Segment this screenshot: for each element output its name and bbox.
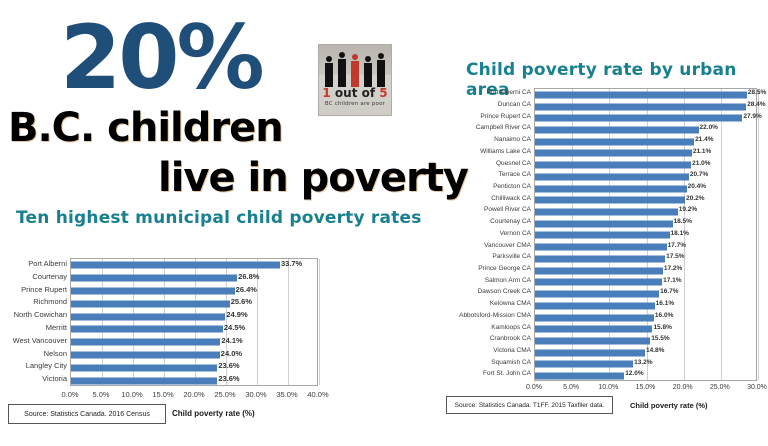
- bar[interactable]: [535, 349, 645, 356]
- x-axis-tick: 30.0%: [732, 384, 768, 391]
- category-label: Cranbrook CA: [439, 335, 531, 342]
- chart-row: [535, 230, 756, 242]
- chart-row: [535, 300, 756, 312]
- bar[interactable]: [535, 91, 747, 98]
- value-label: 18.1%: [671, 230, 689, 237]
- category-label: Kelowna CMA: [439, 300, 531, 307]
- chart-row: [535, 288, 756, 300]
- chart-row: [535, 112, 756, 124]
- category-label: Williams Lake CA: [439, 148, 531, 155]
- bar[interactable]: [535, 361, 633, 368]
- chart-row: [535, 89, 756, 101]
- category-label: Parksville CA: [439, 253, 531, 260]
- bar[interactable]: [535, 115, 742, 122]
- bar[interactable]: [535, 326, 652, 333]
- value-label: 16.7%: [660, 288, 678, 295]
- gridline: [758, 89, 759, 380]
- chart-row: [535, 218, 756, 230]
- value-label: 21.1%: [693, 148, 711, 155]
- value-label: 22.0%: [700, 124, 718, 131]
- value-label: 20.7%: [690, 171, 708, 178]
- category-label: Port Alberni CA: [439, 89, 531, 96]
- value-label: 17.5%: [666, 253, 684, 260]
- chart-row: [535, 370, 756, 382]
- category-label: Squamish CA: [439, 359, 531, 366]
- value-label: 28.4%: [747, 101, 765, 108]
- chart-row: [535, 124, 756, 136]
- value-label: 12.0%: [625, 370, 643, 377]
- bar[interactable]: [535, 197, 685, 204]
- chart-row: [535, 312, 756, 324]
- urban-area-child-poverty-chart: Port Alberni CA28.5%Duncan CA28.4%Prince…: [0, 0, 768, 446]
- category-label: Fort St. John CA: [439, 370, 531, 377]
- bar[interactable]: [535, 162, 691, 169]
- value-label: 18.5%: [674, 218, 692, 225]
- bar[interactable]: [535, 127, 699, 134]
- category-label: Courtenay CA: [439, 218, 531, 225]
- bar[interactable]: [535, 255, 665, 262]
- bar[interactable]: [535, 150, 692, 157]
- chart-row: [535, 265, 756, 277]
- chart-row: [535, 323, 756, 335]
- value-label: 15.5%: [651, 335, 669, 342]
- value-label: 19.2%: [679, 206, 697, 213]
- chart-row: [535, 148, 756, 160]
- infographic-canvas: 20% B.C. children live in poverty 1 out …: [0, 0, 768, 446]
- value-label: 17.2%: [664, 265, 682, 272]
- category-label: Nanaimo CA: [439, 136, 531, 143]
- bar[interactable]: [535, 314, 654, 321]
- bar[interactable]: [535, 291, 659, 298]
- bar[interactable]: [535, 173, 689, 180]
- bar[interactable]: [535, 220, 673, 227]
- bar[interactable]: [535, 232, 670, 239]
- category-label: Abbotsford-Mission CMA: [439, 312, 531, 319]
- source-note: Source: Statistics Canada. T1FF. 2015 Ta…: [446, 396, 613, 414]
- category-label: Terrace CA: [439, 171, 531, 178]
- category-label: Prince Rupert CA: [439, 113, 531, 120]
- chart-row: [535, 194, 756, 206]
- value-label: 17.1%: [663, 277, 681, 284]
- plot-area: [534, 88, 757, 381]
- category-label: Campbell River CA: [439, 124, 531, 131]
- value-label: 16.0%: [655, 312, 673, 319]
- bar[interactable]: [535, 302, 655, 309]
- category-label: Chilliwack CA: [439, 195, 531, 202]
- chart-row: [535, 335, 756, 347]
- value-label: 28.5%: [748, 89, 766, 96]
- bar[interactable]: [535, 373, 624, 380]
- value-label: 20.4%: [688, 183, 706, 190]
- chart-row: [535, 277, 756, 289]
- category-label: Powell River CA: [439, 206, 531, 213]
- category-label: Dawson Creek CA: [439, 288, 531, 295]
- bar[interactable]: [535, 103, 746, 110]
- bar[interactable]: [535, 279, 662, 286]
- chart-row: [535, 159, 756, 171]
- category-label: Prince George CA: [439, 265, 531, 272]
- bar[interactable]: [535, 185, 687, 192]
- value-label: 27.9%: [743, 113, 761, 120]
- value-label: 13.2%: [634, 359, 652, 366]
- value-label: 17.7%: [668, 242, 686, 249]
- chart-row: [535, 136, 756, 148]
- value-label: 16.1%: [656, 300, 674, 307]
- chart-row: [535, 171, 756, 183]
- category-label: Victoria CMA: [439, 347, 531, 354]
- category-label: Quesnel CA: [439, 160, 531, 167]
- category-label: Vernon CA: [439, 230, 531, 237]
- category-label: Duncan CA: [439, 101, 531, 108]
- value-label: 21.4%: [695, 136, 713, 143]
- bar[interactable]: [535, 267, 663, 274]
- category-label: Penticton CA: [439, 183, 531, 190]
- x-axis-title: Child poverty rate (%): [630, 401, 708, 410]
- chart-row: [535, 241, 756, 253]
- category-label: Kamloops CA: [439, 324, 531, 331]
- category-label: Vancouver CMA: [439, 242, 531, 249]
- chart-row: [535, 206, 756, 218]
- bar[interactable]: [535, 337, 650, 344]
- chart-row: [535, 183, 756, 195]
- chart-row: [535, 253, 756, 265]
- bar[interactable]: [535, 138, 694, 145]
- value-label: 15.8%: [653, 324, 671, 331]
- value-label: 14.8%: [646, 347, 664, 354]
- bar[interactable]: [535, 209, 678, 216]
- chart-row: [535, 101, 756, 113]
- category-label: Salmon Arm CA: [439, 277, 531, 284]
- bar[interactable]: [535, 244, 667, 251]
- value-label: 21.0%: [692, 160, 710, 167]
- value-label: 20.2%: [686, 195, 704, 202]
